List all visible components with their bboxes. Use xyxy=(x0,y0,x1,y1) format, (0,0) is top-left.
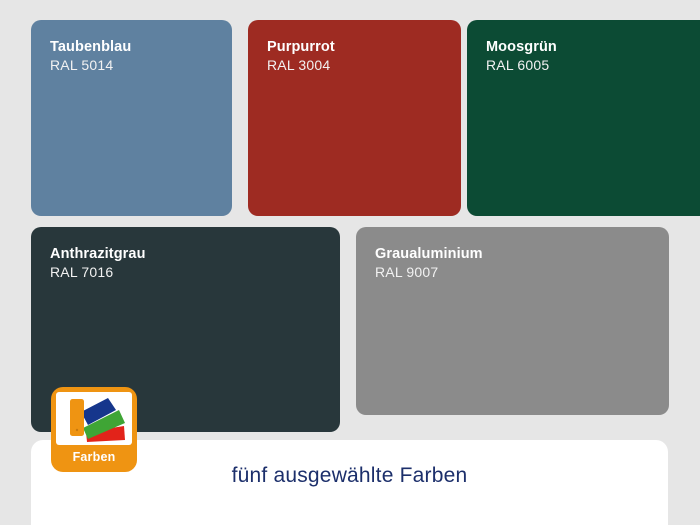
swatch-code: RAL 9007 xyxy=(375,264,483,281)
swatch-name: Purpurrot xyxy=(267,39,335,56)
color-palette-graphic: Taubenblau RAL 5014 Purpurrot RAL 3004 M… xyxy=(0,0,700,525)
color-swatch-graualuminium[interactable]: Graualuminium RAL 9007 xyxy=(356,227,669,415)
swatch-code: RAL 6005 xyxy=(486,57,557,74)
swatch-name: Taubenblau xyxy=(50,39,131,56)
swatch-code: RAL 5014 xyxy=(50,57,131,74)
swatch-label-block: Taubenblau RAL 5014 xyxy=(50,39,131,74)
swatch-name: Moosgrün xyxy=(486,39,557,56)
farben-logo-badge[interactable]: Farben xyxy=(51,387,137,472)
swatch-label-block: Purpurrot RAL 3004 xyxy=(267,39,335,74)
swatch-name: Anthrazitgrau xyxy=(50,246,146,263)
logo-icon-area xyxy=(56,392,132,445)
color-swatch-purpurrot[interactable]: Purpurrot RAL 3004 xyxy=(248,20,461,216)
swatch-label-block: Moosgrün RAL 6005 xyxy=(486,39,557,74)
color-fan-icon xyxy=(56,392,132,445)
logo-label: Farben xyxy=(56,445,132,470)
swatch-code: RAL 7016 xyxy=(50,264,146,281)
swatch-label-block: Graualuminium RAL 9007 xyxy=(375,246,483,281)
swatch-name: Graualuminium xyxy=(375,246,483,263)
swatch-code: RAL 3004 xyxy=(267,57,335,74)
color-swatch-taubenblau[interactable]: Taubenblau RAL 5014 xyxy=(31,20,232,216)
swatch-label-block: Anthrazitgrau RAL 7016 xyxy=(50,246,146,281)
color-swatch-moosgruen[interactable]: Moosgrün RAL 6005 xyxy=(467,20,700,216)
